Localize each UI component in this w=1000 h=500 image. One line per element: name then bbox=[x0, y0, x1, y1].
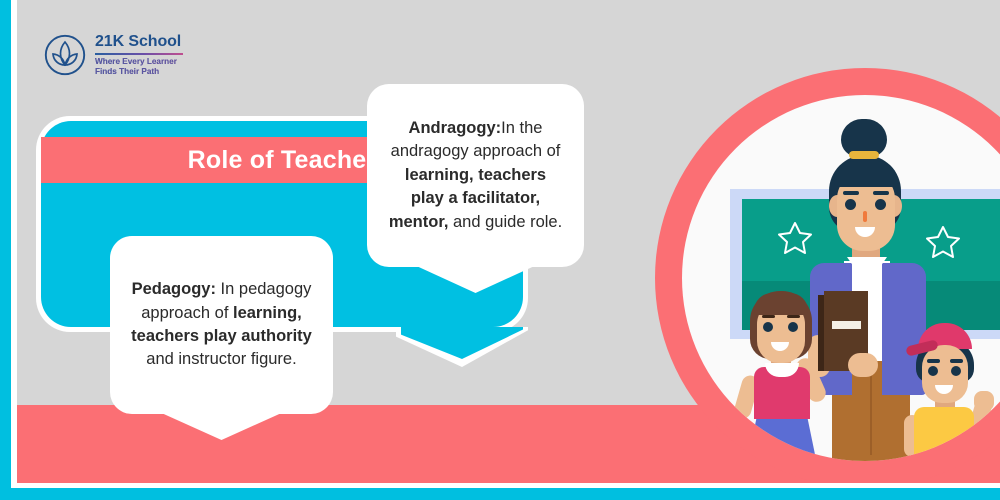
teacher-hand-holding-book bbox=[848, 353, 878, 377]
illustration-disc bbox=[682, 95, 1000, 461]
girl-eye-left bbox=[763, 322, 773, 332]
teacher-eye-right bbox=[875, 199, 886, 210]
infographic-canvas: Role of Teacher Andragogy:In the andrago… bbox=[0, 0, 1000, 500]
lotus-circle-logo-icon bbox=[44, 34, 86, 76]
boy-shirt bbox=[914, 407, 974, 459]
star-outline-right-icon bbox=[926, 225, 960, 258]
boy-eye-left bbox=[928, 366, 938, 376]
brand-logo[interactable]: 21K School Where Every Learner Finds The… bbox=[44, 32, 224, 78]
teacher-fringe bbox=[834, 161, 898, 187]
logo-tagline: Where Every Learner Finds Their Path bbox=[95, 57, 183, 77]
pedagogy-body-3: and instructor figure. bbox=[146, 350, 296, 368]
book-label bbox=[832, 321, 861, 329]
teacher-eyebrow-right bbox=[873, 191, 889, 195]
frame-bottom-border bbox=[0, 488, 1000, 500]
teacher-eye-left bbox=[845, 199, 856, 210]
star-outline-left-icon bbox=[778, 221, 812, 254]
andragogy-body-3: and guide role. bbox=[448, 213, 562, 231]
logo-tagline-line1: Where Every Learner bbox=[95, 57, 183, 67]
andragogy-term: Andragogy: bbox=[409, 119, 502, 137]
pedagogy-callout: Pedagogy: In pedagogy approach of learni… bbox=[110, 236, 333, 414]
page-title: Role of Teacher bbox=[188, 146, 377, 175]
teacher-pants-seam bbox=[870, 363, 872, 455]
pedagogy-term: Pedagogy: bbox=[132, 280, 216, 298]
girl-skirt bbox=[746, 413, 818, 461]
pedagogy-text: Pedagogy: In pedagogy approach of learni… bbox=[130, 278, 313, 372]
girl-eye-right bbox=[788, 322, 798, 332]
girl-eyebrow-left bbox=[762, 315, 775, 318]
classroom-illustration bbox=[682, 95, 1000, 461]
girl-eyebrow-right bbox=[787, 315, 800, 318]
boy-eyebrow-right bbox=[950, 359, 963, 363]
boy-waving-hand bbox=[974, 391, 994, 411]
logo-text-block: 21K School Where Every Learner Finds The… bbox=[95, 33, 183, 76]
teacher-eyebrow-left bbox=[843, 191, 859, 195]
logo-divider bbox=[95, 53, 183, 55]
logo-tagline-line2: Finds Their Path bbox=[95, 67, 183, 77]
boy-eyebrow-left bbox=[927, 359, 940, 363]
girl-fringe bbox=[754, 293, 808, 315]
logo-name: 21K School bbox=[95, 33, 183, 50]
andragogy-callout: Andragogy:In the andragogy approach of l… bbox=[367, 84, 584, 267]
boy-eye-right bbox=[951, 366, 961, 376]
teacher-nose bbox=[863, 211, 867, 222]
andragogy-text: Andragogy:In the andragogy approach of l… bbox=[387, 117, 564, 234]
frame-inner-left bbox=[11, 0, 17, 490]
frame-left-border bbox=[0, 0, 11, 500]
teacher-hair-band bbox=[849, 151, 879, 159]
